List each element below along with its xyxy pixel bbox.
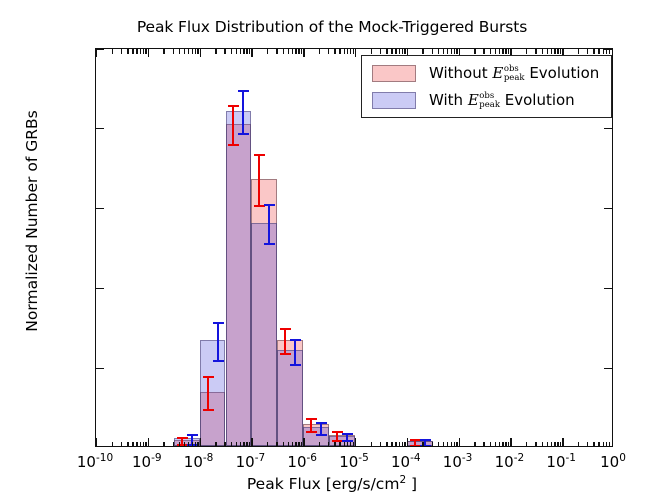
x-axis-minor-tick — [184, 49, 185, 54]
x-axis-minor-tick — [339, 49, 340, 54]
x-axis-minor-tick — [399, 442, 400, 447]
x-axis-minor-tick — [231, 442, 232, 447]
x-axis-minor-tick — [295, 49, 296, 54]
x-axis-minor-tick — [240, 442, 241, 447]
x-axis-minor-tick — [224, 49, 225, 54]
x-axis-minor-tick — [587, 442, 588, 447]
x-axis-minor-tick — [192, 49, 193, 54]
x-axis-minor-tick — [140, 442, 141, 447]
x-axis-minor-tick — [554, 442, 555, 447]
x-axis-minor-tick — [380, 442, 381, 447]
x-axis-minor-tick — [267, 49, 268, 54]
x-axis-minor-tick — [188, 442, 189, 447]
x-axis-tick — [355, 49, 356, 57]
legend: Without Eobspeak EvolutionWith Eobspeak … — [361, 55, 612, 118]
x-axis-minor-tick — [173, 442, 174, 447]
legend-label: With Eobspeak Evolution — [429, 91, 575, 109]
x-axis-minor-tick — [136, 442, 137, 447]
x-axis-minor-tick — [179, 49, 180, 54]
x-axis-minor-tick — [603, 442, 604, 447]
x-axis-minor-tick — [451, 49, 452, 54]
x-axis-minor-tick — [301, 49, 302, 54]
histogram-bar — [303, 427, 329, 446]
x-axis-tick — [200, 438, 201, 446]
y-axis-tick — [604, 208, 612, 209]
x-axis-minor-tick — [391, 49, 392, 54]
legend-color-swatch — [372, 65, 416, 82]
x-axis-minor-tick — [292, 49, 293, 54]
x-axis-tick — [407, 438, 408, 446]
figure: Peak Flux Distribution of the Mock-Trigg… — [0, 0, 664, 502]
x-axis-minor-tick — [371, 442, 372, 447]
x-axis-tick — [303, 49, 304, 57]
x-axis-minor-tick — [508, 49, 509, 54]
x-axis-minor-tick — [173, 49, 174, 54]
x-axis-minor-tick — [283, 49, 284, 54]
x-axis-minor-tick — [535, 49, 536, 54]
x-axis-minor-tick — [554, 49, 555, 54]
x-axis-minor-tick — [404, 442, 405, 447]
x-axis-minor-tick — [578, 442, 579, 447]
x-axis-minor-tick — [298, 49, 299, 54]
x-axis-minor-tick — [422, 442, 423, 447]
x-axis-tick-label: 10-6 — [287, 452, 317, 471]
x-axis-minor-tick — [236, 49, 237, 54]
x-axis-minor-tick — [195, 442, 196, 447]
x-axis-minor-tick — [132, 49, 133, 54]
x-axis-tick-label: 100 — [600, 452, 626, 471]
x-axis-minor-tick — [319, 49, 320, 54]
x-axis-minor-tick — [499, 442, 500, 447]
x-axis-minor-tick — [456, 442, 457, 447]
x-axis-minor-tick — [283, 442, 284, 447]
x-axis-minor-tick — [542, 49, 543, 54]
x-axis-minor-tick — [292, 442, 293, 447]
x-axis-minor-tick — [236, 442, 237, 447]
x-axis-minor-tick — [163, 442, 164, 447]
x-axis-minor-tick — [339, 442, 340, 447]
x-axis-minor-tick — [547, 442, 548, 447]
x-axis-minor-tick — [483, 442, 484, 447]
y-axis-tick — [604, 288, 612, 289]
x-axis-minor-tick — [502, 49, 503, 54]
x-axis-minor-tick — [432, 442, 433, 447]
x-axis-minor-tick — [404, 49, 405, 54]
y-axis-tick — [604, 368, 612, 369]
x-axis-minor-tick — [598, 442, 599, 447]
x-axis-minor-tick — [474, 442, 475, 447]
chart-title: Peak Flux Distribution of the Mock-Trigg… — [0, 18, 664, 36]
x-axis-title: Peak Flux [erg/s/cm2 ] — [0, 474, 664, 493]
x-axis-minor-tick — [112, 442, 113, 447]
x-axis-minor-tick — [334, 49, 335, 54]
y-axis-tick — [604, 48, 612, 49]
x-axis-tick — [303, 438, 304, 446]
x-axis-minor-tick — [328, 442, 329, 447]
x-axis-minor-tick — [328, 49, 329, 54]
x-axis-minor-tick — [344, 442, 345, 447]
x-axis-minor-tick — [192, 442, 193, 447]
x-axis-minor-tick — [483, 49, 484, 54]
y-axis-tick — [604, 128, 612, 129]
y-axis-title: Normalized Number of GRBs — [23, 21, 41, 421]
x-axis-minor-tick — [612, 442, 613, 447]
x-axis-minor-tick — [447, 442, 448, 447]
x-axis-minor-tick — [508, 442, 509, 447]
x-axis-minor-tick — [246, 442, 247, 447]
x-axis-minor-tick — [344, 49, 345, 54]
x-axis-minor-tick — [557, 49, 558, 54]
x-axis-minor-tick — [505, 442, 506, 447]
x-axis-minor-tick — [350, 49, 351, 54]
x-axis-minor-tick — [371, 49, 372, 54]
x-axis-minor-tick — [127, 49, 128, 54]
x-axis-minor-tick — [267, 442, 268, 447]
x-axis-minor-tick — [121, 49, 122, 54]
x-axis-minor-tick — [499, 49, 500, 54]
x-axis-minor-tick — [593, 49, 594, 54]
x-axis-minor-tick — [399, 49, 400, 54]
x-axis-minor-tick — [551, 442, 552, 447]
x-axis-minor-tick — [276, 49, 277, 54]
x-axis-minor-tick — [347, 49, 348, 54]
x-axis-tick — [251, 49, 252, 57]
x-axis-minor-tick — [197, 49, 198, 54]
x-axis-tick — [148, 49, 149, 57]
x-axis-minor-tick — [502, 442, 503, 447]
x-axis-tick-label: 10-9 — [132, 452, 162, 471]
x-axis-minor-tick — [301, 442, 302, 447]
x-axis-minor-tick — [438, 442, 439, 447]
x-axis-tick — [148, 438, 149, 446]
x-axis-minor-tick — [391, 442, 392, 447]
x-axis-minor-tick — [334, 442, 335, 447]
x-axis-minor-tick — [143, 442, 144, 447]
legend-item-without-epeak-evolution: Without Eobspeak Evolution — [372, 64, 599, 82]
x-axis-minor-tick — [215, 49, 216, 54]
x-axis-minor-tick — [246, 49, 247, 54]
x-axis-tick — [96, 49, 97, 57]
x-axis-minor-tick — [121, 442, 122, 447]
x-axis-minor-tick — [215, 442, 216, 447]
x-axis-tick — [96, 438, 97, 446]
x-axis-minor-tick — [402, 442, 403, 447]
x-axis-minor-tick — [551, 49, 552, 54]
x-axis-minor-tick — [288, 442, 289, 447]
x-axis-tick-label: 10-2 — [495, 452, 525, 471]
y-axis-tick — [96, 368, 104, 369]
x-axis-minor-tick — [288, 49, 289, 54]
x-axis-minor-tick — [606, 442, 607, 447]
x-axis-minor-tick — [145, 442, 146, 447]
x-axis-minor-tick — [456, 49, 457, 54]
x-axis-minor-tick — [127, 442, 128, 447]
x-axis-minor-tick — [132, 442, 133, 447]
x-axis-minor-tick — [560, 49, 561, 54]
x-axis-minor-tick — [526, 49, 527, 54]
histogram-bar — [226, 111, 252, 446]
histogram-bar — [200, 340, 226, 446]
x-axis-minor-tick — [112, 49, 113, 54]
x-axis-minor-tick — [143, 49, 144, 54]
x-axis-minor-tick — [249, 49, 250, 54]
x-axis-minor-tick — [298, 442, 299, 447]
y-axis-tick — [96, 288, 104, 289]
x-axis-minor-tick — [276, 442, 277, 447]
y-axis-tick — [96, 208, 104, 209]
x-axis-minor-tick — [319, 442, 320, 447]
x-axis-minor-tick — [243, 442, 244, 447]
y-axis-tick — [96, 128, 104, 129]
x-axis-minor-tick — [490, 49, 491, 54]
x-axis-minor-tick — [350, 442, 351, 447]
x-axis-minor-tick — [443, 442, 444, 447]
x-axis-minor-tick — [542, 442, 543, 447]
x-axis-minor-tick — [243, 49, 244, 54]
x-axis-minor-tick — [447, 49, 448, 54]
x-axis-minor-tick — [136, 49, 137, 54]
x-axis-minor-tick — [347, 442, 348, 447]
histogram-bar — [251, 223, 277, 446]
x-axis-minor-tick — [593, 442, 594, 447]
x-axis-tick-label: 10-8 — [184, 452, 214, 471]
x-axis-tick — [510, 438, 511, 446]
x-axis-minor-tick — [380, 49, 381, 54]
x-axis-tick-label: 10-3 — [443, 452, 473, 471]
x-axis-tick-label: 10-4 — [391, 452, 421, 471]
x-axis-minor-tick — [179, 442, 180, 447]
x-axis-minor-tick — [295, 442, 296, 447]
x-axis-minor-tick — [535, 442, 536, 447]
x-axis-minor-tick — [386, 49, 387, 54]
x-axis-minor-tick — [598, 49, 599, 54]
x-axis-minor-tick — [495, 49, 496, 54]
x-axis-minor-tick — [495, 442, 496, 447]
x-axis-minor-tick — [474, 49, 475, 54]
x-axis-tick — [562, 438, 563, 446]
x-axis-minor-tick — [353, 442, 354, 447]
x-axis-minor-tick — [526, 442, 527, 447]
x-axis-minor-tick — [240, 49, 241, 54]
x-axis-minor-tick — [578, 49, 579, 54]
x-axis-minor-tick — [505, 49, 506, 54]
x-axis-minor-tick — [560, 442, 561, 447]
legend-label: Without Eobspeak Evolution — [429, 64, 599, 82]
x-axis-tick — [459, 438, 460, 446]
x-axis-tick — [200, 49, 201, 57]
x-axis-tick-label: 10-7 — [236, 452, 266, 471]
legend-color-swatch — [372, 92, 416, 109]
x-axis-minor-tick — [422, 49, 423, 54]
x-axis-minor-tick — [587, 49, 588, 54]
x-axis-minor-tick — [557, 442, 558, 447]
legend-item-with-epeak-evolution: With Eobspeak Evolution — [372, 91, 599, 109]
x-axis-minor-tick — [353, 49, 354, 54]
x-axis-minor-tick — [454, 49, 455, 54]
x-axis-minor-tick — [249, 442, 250, 447]
x-axis-minor-tick — [184, 442, 185, 447]
x-axis-minor-tick — [145, 49, 146, 54]
x-axis-minor-tick — [163, 49, 164, 54]
x-axis-tick-label: 10-5 — [339, 452, 369, 471]
x-axis-minor-tick — [395, 442, 396, 447]
x-axis-minor-tick — [547, 49, 548, 54]
y-axis-tick — [96, 48, 104, 49]
x-axis-minor-tick — [609, 442, 610, 447]
x-axis-minor-tick — [231, 49, 232, 54]
x-axis-minor-tick — [386, 442, 387, 447]
x-axis-minor-tick — [224, 442, 225, 447]
x-axis-minor-tick — [402, 49, 403, 54]
x-axis-minor-tick — [490, 442, 491, 447]
x-axis-tick-label: 10-10 — [77, 452, 113, 471]
x-axis-minor-tick — [188, 49, 189, 54]
x-axis-minor-tick — [432, 49, 433, 54]
x-axis-minor-tick — [197, 442, 198, 447]
x-axis-minor-tick — [140, 49, 141, 54]
x-axis-minor-tick — [454, 442, 455, 447]
x-axis-minor-tick — [195, 49, 196, 54]
x-axis-minor-tick — [438, 49, 439, 54]
x-axis-minor-tick — [451, 442, 452, 447]
x-axis-tick-label: 10-1 — [546, 452, 576, 471]
x-axis-tick — [251, 438, 252, 446]
x-axis-minor-tick — [395, 49, 396, 54]
x-axis-tick — [355, 438, 356, 446]
x-axis-minor-tick — [443, 49, 444, 54]
